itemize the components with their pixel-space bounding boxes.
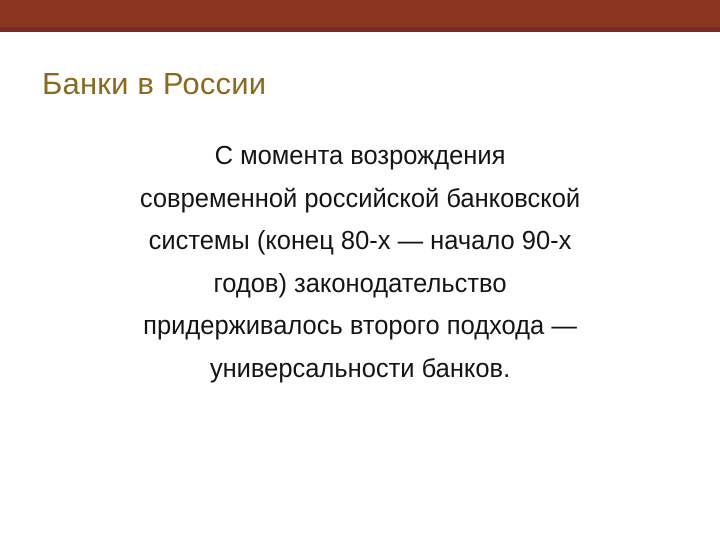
top-banner: [0, 0, 720, 27]
body-line: годов) законодательство: [40, 263, 680, 306]
slide-title: Банки в России: [42, 64, 682, 104]
slide-body: С момента возрождения современной россий…: [40, 135, 680, 390]
body-line: универсальности банков.: [40, 348, 680, 391]
body-line: С момента возрождения: [40, 135, 680, 178]
top-banner-accent-stripe: [0, 27, 720, 32]
body-line: придерживалось второго подхода —: [40, 305, 680, 348]
body-line: системы (конец 80-х — начало 90-х: [40, 220, 680, 263]
slide: Банки в России С момента возрождения сов…: [0, 0, 720, 540]
body-line: современной российской банковской: [40, 178, 680, 221]
